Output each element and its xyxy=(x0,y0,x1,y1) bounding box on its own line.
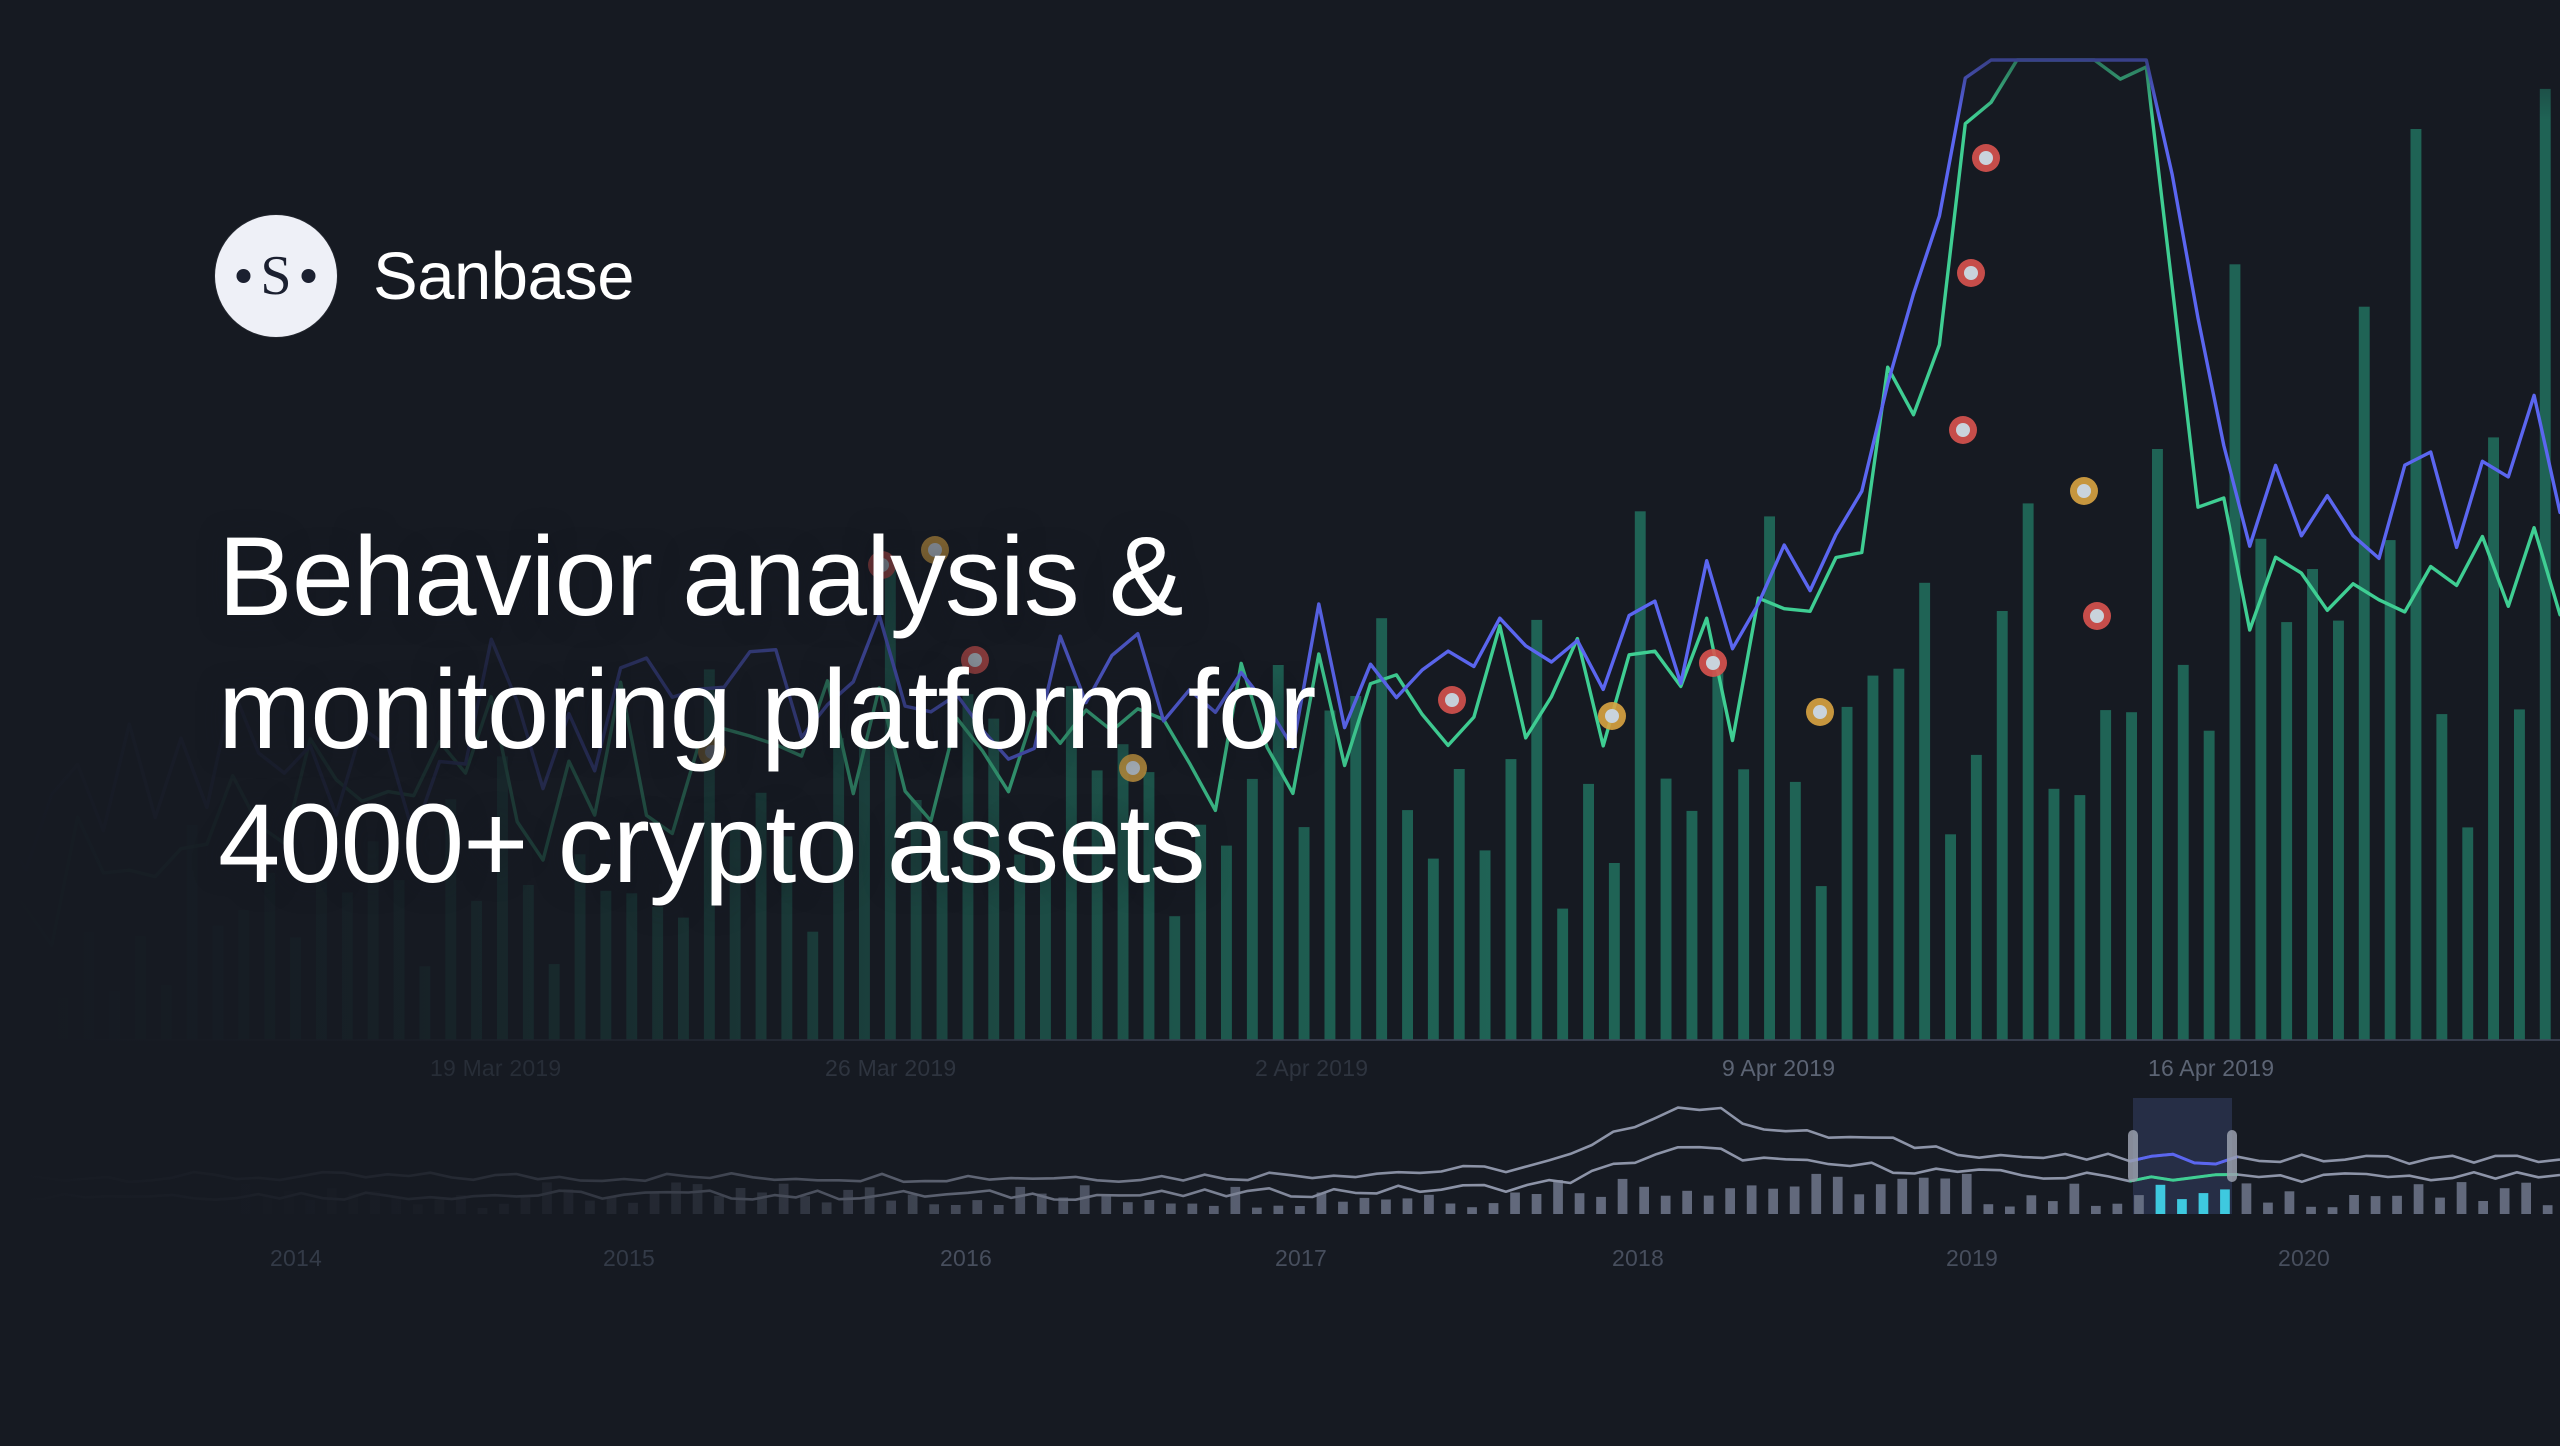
minimap-bar xyxy=(2263,1203,2273,1214)
volume-bar xyxy=(471,901,482,1040)
minimap-bar xyxy=(2500,1188,2510,1214)
volume-bar xyxy=(1661,779,1672,1040)
date-axis-label: 16 Apr 2019 xyxy=(2148,1055,2274,1082)
volume-bar xyxy=(600,891,611,1040)
volume-bar xyxy=(83,932,94,1040)
minimap-bar xyxy=(564,1189,574,1214)
volume-bar xyxy=(1454,769,1465,1040)
minimap-bar xyxy=(1403,1198,1413,1214)
year-axis-label: 2019 xyxy=(1946,1245,1998,1272)
volume-bar xyxy=(1712,669,1723,1040)
minimap-bar xyxy=(2156,1185,2166,1214)
logo-glyph: S xyxy=(231,231,321,321)
volume-bar xyxy=(2307,569,2318,1040)
volume-bar xyxy=(2333,621,2344,1040)
minimap-bar xyxy=(1101,1196,1111,1214)
volume-bar xyxy=(1609,863,1620,1040)
minimap-bar xyxy=(1510,1193,1520,1215)
year-axis-label: 2017 xyxy=(1275,1245,1327,1272)
volume-bar xyxy=(213,926,224,1040)
volume-bar xyxy=(1325,711,1336,1041)
volume-bar xyxy=(1635,511,1646,1040)
sanbase-logo-icon[interactable]: S xyxy=(215,215,337,337)
minimap-bar xyxy=(2091,1206,2101,1214)
volume-bar xyxy=(2462,827,2473,1040)
minimap-bar xyxy=(2220,1189,2230,1214)
insight-marker[interactable] xyxy=(1699,649,1727,677)
volume-bar xyxy=(1816,886,1827,1040)
volume-bar xyxy=(1790,782,1801,1040)
year-axis-label: 2020 xyxy=(2278,1245,2330,1272)
minimap-bar xyxy=(263,1197,273,1214)
minimap-bar xyxy=(1553,1180,1563,1214)
headline-line-2: monitoring platform for xyxy=(218,643,1315,776)
volume-bar xyxy=(1842,707,1853,1040)
minimap-bar xyxy=(1618,1179,1628,1214)
minimap-bar xyxy=(2285,1191,2295,1214)
minimap-bar xyxy=(1360,1198,1370,1214)
headline-line-3: 4000+ crypto assets xyxy=(218,777,1315,910)
minimap-bar xyxy=(69,1199,79,1214)
insight-marker[interactable] xyxy=(1949,416,1977,444)
minimap-bar xyxy=(1747,1185,1757,1214)
minimap-bar xyxy=(2177,1199,2187,1214)
volume-bar xyxy=(1868,676,1879,1040)
minimap-bar xyxy=(1940,1179,1950,1215)
volume-bar xyxy=(290,937,301,1040)
minimap-bar xyxy=(155,1203,165,1214)
minimap-bar xyxy=(1274,1206,1284,1214)
minimap-bar xyxy=(2005,1207,2015,1215)
minimap-bar xyxy=(2306,1207,2316,1214)
volume-bar xyxy=(1583,784,1594,1040)
minimap-range-selector[interactable] xyxy=(0,1090,2560,1250)
volume-bar xyxy=(2204,731,2215,1040)
minimap-bar xyxy=(671,1183,681,1215)
page-title: Behavior analysis &monitoring platform f… xyxy=(218,510,1315,910)
minimap-bar xyxy=(714,1196,724,1214)
volume-bar xyxy=(2023,503,2034,1040)
minimap-bar xyxy=(2457,1182,2467,1214)
minimap-bar xyxy=(1231,1187,1241,1214)
volume-bar xyxy=(1687,811,1698,1040)
minimap-bar xyxy=(2070,1184,2080,1214)
year-axis-label: 2014 xyxy=(270,1245,322,1272)
volume-bar xyxy=(1971,755,1982,1040)
volume-bar xyxy=(57,998,68,1040)
minimap-bar xyxy=(1897,1179,1907,1214)
volume-bar xyxy=(652,907,663,1040)
volume-bar xyxy=(1506,759,1517,1040)
insight-marker[interactable] xyxy=(1438,686,1466,714)
volume-bar xyxy=(2152,449,2163,1040)
minimap-bar xyxy=(822,1202,832,1214)
minimap-bar xyxy=(1209,1206,1219,1214)
volume-bar xyxy=(2436,714,2447,1040)
minimap-bar xyxy=(1424,1195,1434,1214)
insight-marker[interactable] xyxy=(1972,144,2000,172)
volume-bar xyxy=(1893,669,1904,1040)
minimap-bar xyxy=(2199,1193,2209,1214)
minimap-bar xyxy=(585,1201,595,1214)
minimap-bar xyxy=(736,1188,746,1214)
minimap-bar xyxy=(1661,1196,1671,1214)
minimap-bar xyxy=(1854,1194,1864,1214)
minimap-bar xyxy=(1338,1202,1348,1214)
volume-bar xyxy=(2074,795,2085,1040)
volume-bar xyxy=(2488,437,2499,1040)
year-axis-label: 2015 xyxy=(603,1245,655,1272)
minimap-bar xyxy=(1919,1178,1929,1214)
brand-name: Sanbase xyxy=(373,238,634,315)
volume-bar xyxy=(32,986,43,1041)
minimap-bar xyxy=(2371,1196,2381,1214)
volume-bar xyxy=(342,892,353,1040)
minimap-bar xyxy=(1575,1193,1585,1214)
minimap-bar xyxy=(1467,1207,1477,1214)
minimap-bar xyxy=(542,1182,552,1214)
minimap-bar xyxy=(2478,1201,2488,1214)
minimap-bar xyxy=(1532,1194,1542,1214)
insight-marker[interactable] xyxy=(2070,477,2098,505)
volume-bar xyxy=(2359,307,2370,1040)
volume-bar xyxy=(2230,264,2241,1040)
year-axis-label: 2018 xyxy=(1612,1245,1664,1272)
minimap-bar xyxy=(628,1203,638,1214)
brand-lockup[interactable]: S Sanbase xyxy=(215,215,634,337)
date-axis-label: 9 Apr 2019 xyxy=(1722,1055,1835,1082)
minimap-bar xyxy=(1489,1203,1499,1214)
volume-bar xyxy=(678,918,689,1040)
minimap-bar xyxy=(413,1205,423,1215)
volume-bar xyxy=(2100,710,2111,1040)
volume-bar xyxy=(1402,810,1413,1040)
volume-bar xyxy=(238,910,249,1040)
minimap-bar xyxy=(2543,1205,2553,1214)
minimap-bar xyxy=(779,1184,789,1214)
minimap-bar xyxy=(133,1187,143,1214)
minimap-bar xyxy=(865,1187,875,1214)
minimap-bar xyxy=(1833,1177,1843,1214)
minimap-bar xyxy=(929,1204,939,1214)
volume-bar xyxy=(187,825,198,1040)
date-axis-label: 26 Mar 2019 xyxy=(825,1055,956,1082)
volume-bar xyxy=(626,893,637,1040)
minimap-bar xyxy=(2328,1207,2338,1214)
volume-bar xyxy=(109,991,120,1040)
minimap-bar xyxy=(1984,1204,1994,1214)
minimap-bar xyxy=(1962,1174,1972,1214)
volume-bar xyxy=(2049,789,2060,1040)
minimap-bar xyxy=(392,1197,402,1214)
volume-bar xyxy=(135,936,146,1040)
volume-bar xyxy=(1531,620,1542,1040)
minimap-bar xyxy=(693,1184,703,1214)
minimap-bar xyxy=(1295,1206,1305,1214)
date-axis-label: 2 Apr 2019 xyxy=(1255,1055,1368,1082)
volume-bar xyxy=(419,966,430,1040)
chart-bottom-fade xyxy=(0,1290,2560,1446)
minimap-bar xyxy=(972,1200,982,1214)
minimap-bar xyxy=(2414,1184,2424,1214)
volume-bar xyxy=(6,1003,17,1040)
minimap-bar xyxy=(1682,1191,1692,1214)
minimap-bar xyxy=(1015,1187,1025,1214)
minimap-bar xyxy=(2435,1198,2445,1214)
date-axis-label: 19 Mar 2019 xyxy=(430,1055,561,1082)
minimap-bar xyxy=(1166,1204,1176,1215)
volume-bar xyxy=(1738,769,1749,1040)
insight-marker[interactable] xyxy=(1957,259,1985,287)
minimap-bar xyxy=(327,1188,337,1214)
minimap-bar xyxy=(2134,1195,2144,1214)
minimap-bar xyxy=(1725,1188,1735,1214)
volume-bar xyxy=(1764,516,1775,1040)
minimap-bar xyxy=(521,1197,531,1214)
minimap-bar xyxy=(1252,1208,1262,1214)
minimap-bar xyxy=(1790,1187,1800,1215)
volume-bar xyxy=(2281,622,2292,1040)
volume-bar xyxy=(1997,611,2008,1040)
minimap-bar xyxy=(2113,1204,2123,1214)
minimap-bar xyxy=(2048,1201,2058,1214)
volume-bar xyxy=(1557,909,1568,1040)
minimap-bar xyxy=(2392,1196,2402,1214)
insight-marker[interactable] xyxy=(1806,698,1834,726)
minimap-bar xyxy=(951,1205,961,1214)
volume-bar xyxy=(161,985,172,1040)
minimap-bar xyxy=(478,1208,488,1214)
minimap-bar xyxy=(2242,1183,2252,1214)
minimap-bar xyxy=(2349,1195,2359,1214)
minimap-bar xyxy=(1704,1196,1714,1214)
year-axis-label: 2016 xyxy=(940,1245,992,1272)
minimap-bar xyxy=(47,1204,57,1214)
minimap-bar xyxy=(499,1204,509,1214)
volume-bar xyxy=(2126,712,2137,1040)
minimap-bar xyxy=(112,1183,122,1214)
volume-bar xyxy=(1945,834,1956,1040)
minimap-bar xyxy=(2521,1183,2531,1214)
minimap-bar xyxy=(1639,1187,1649,1214)
minimap-bar xyxy=(886,1201,896,1214)
minimap-bar xyxy=(435,1199,445,1214)
minimap-bar xyxy=(800,1196,810,1214)
minimap-bar xyxy=(607,1197,617,1214)
minimap-bar xyxy=(1188,1204,1198,1214)
minimap-bar xyxy=(1446,1204,1456,1215)
logo-letter: S xyxy=(260,245,291,307)
minimap-bar xyxy=(1123,1202,1133,1214)
volume-bar xyxy=(2178,665,2189,1040)
volume-bar xyxy=(2385,540,2396,1040)
minimap-bar xyxy=(1768,1189,1778,1214)
minimap-bar xyxy=(1811,1174,1821,1214)
minimap-bar xyxy=(1596,1197,1606,1214)
volume-bar xyxy=(1169,916,1180,1040)
minimap-bar xyxy=(1876,1184,1886,1214)
minimap-bar xyxy=(26,1192,36,1214)
minimap-bar xyxy=(2027,1195,2037,1214)
volume-bar xyxy=(549,964,560,1040)
minimap-bar xyxy=(306,1200,316,1214)
headline-line-1: Behavior analysis & xyxy=(218,510,1315,643)
minimap-bar xyxy=(241,1184,251,1214)
insight-marker[interactable] xyxy=(2083,602,2111,630)
minimap-bar xyxy=(908,1195,918,1214)
minimap-bar xyxy=(994,1205,1004,1214)
minimap-handle-left[interactable] xyxy=(2128,1130,2138,1182)
minimap-bar xyxy=(650,1193,660,1214)
volume-bar xyxy=(1428,859,1439,1040)
minimap-bar xyxy=(1145,1200,1155,1214)
volume-bar xyxy=(1480,850,1491,1040)
minimap-bar xyxy=(1381,1200,1391,1215)
volume-bar xyxy=(807,932,818,1040)
insight-marker[interactable] xyxy=(1598,702,1626,730)
minimap-handle-right[interactable] xyxy=(2227,1130,2237,1182)
volume-bar xyxy=(1919,583,1930,1040)
minimap-bar xyxy=(843,1190,853,1214)
volume-bar xyxy=(2514,709,2525,1040)
